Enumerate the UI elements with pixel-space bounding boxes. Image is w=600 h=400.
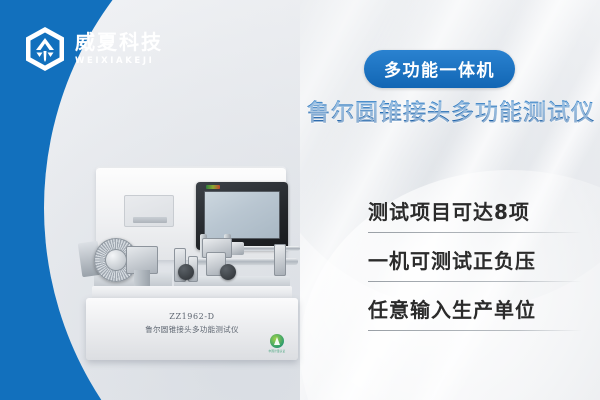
- feature-divider: [368, 232, 582, 233]
- feature-list: 测试项目可达8项 一机可测试正负压 任意输入生产单位: [368, 196, 582, 343]
- screen-display: [204, 191, 280, 239]
- feature-divider: [368, 281, 582, 282]
- rail-clamp: [274, 244, 286, 276]
- feature-divider: [368, 330, 582, 331]
- product-model: ZZ1962-D: [86, 312, 298, 321]
- rail-knob: [220, 264, 236, 280]
- machine-nameplate: ZZ1962-D 鲁尔圆锥接头多功能测试仪: [86, 312, 298, 335]
- page-title: 鲁尔圆锥接头多功能测试仪: [307, 93, 595, 127]
- product-banner: 威夏科技 WEIXIAKEJI 多功能一体机 鲁尔圆锥接头多功能测试仪 测试项目…: [0, 0, 600, 400]
- feature-item: 任意输入生产单位: [368, 294, 582, 330]
- brand-name-en: WEIXIAKEJI: [75, 56, 163, 68]
- machine-base: ZZ1962-D 鲁尔圆锥接头多功能测试仪 中国计量认证: [86, 298, 298, 360]
- feature-item: 一机可测试正负压: [368, 245, 582, 281]
- access-panel-icon: [124, 195, 174, 227]
- brand-logo: 威夏科技 WEIXIAKEJI: [24, 26, 163, 72]
- seal-text: 中国计量认证: [269, 349, 286, 353]
- rod-tip: [230, 242, 244, 255]
- certification-seal-icon: 中国计量认证: [268, 334, 286, 354]
- hexagon-shield-logo-icon: [24, 26, 66, 72]
- seal-disc: [270, 334, 284, 348]
- brand-name-cn: 威夏科技: [75, 31, 163, 54]
- product-name: 鲁尔圆锥接头多功能测试仪: [86, 324, 298, 335]
- brand-logo-text: 威夏科技 WEIXIAKEJI: [75, 31, 163, 68]
- product-image: ZZ1962-D 鲁尔圆锥接头多功能测试仪 中国计量认证: [78, 160, 308, 375]
- rail-knob: [178, 264, 194, 280]
- headline-badge: 多功能一体机: [364, 50, 515, 88]
- feature-item: 测试项目可达8项: [368, 196, 582, 232]
- screen-brand-stripe: [206, 185, 220, 189]
